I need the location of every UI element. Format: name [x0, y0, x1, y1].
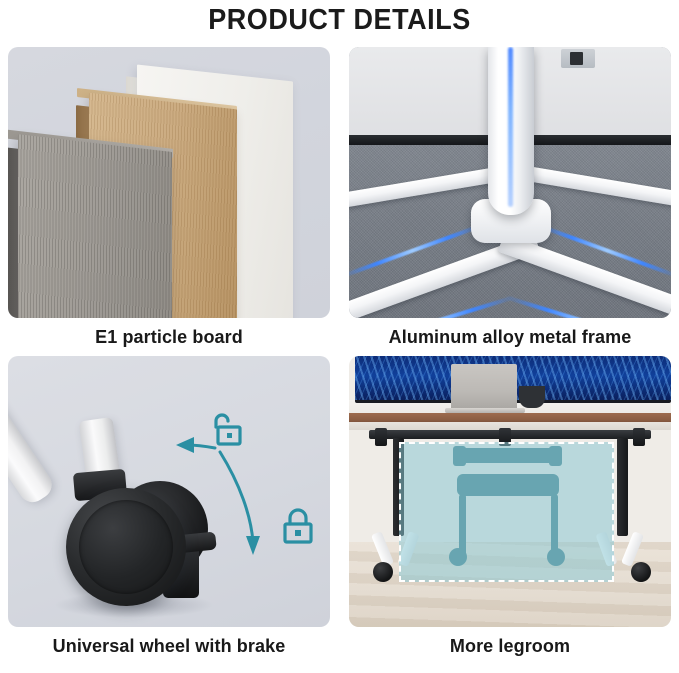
desk-caster-right — [631, 562, 651, 582]
wall-outlet-icon — [561, 49, 595, 68]
page-title: PRODUCT DETAILS — [24, 2, 655, 38]
feature-caption-metal-frame: Aluminum alloy metal frame — [349, 327, 671, 348]
more-legroom-photo — [349, 356, 671, 627]
column-glow-stripe — [508, 47, 513, 207]
desk-bracket-right — [633, 428, 645, 446]
feature-caption-particle-board: E1 particle board — [8, 327, 330, 348]
laptop — [451, 364, 517, 410]
feature-card-universal-wheel[interactable]: Universal wheel with brake — [8, 356, 330, 657]
feature-card-particle-board[interactable]: E1 particle board — [8, 47, 330, 348]
feature-caption-universal-wheel: Universal wheel with brake — [8, 636, 330, 657]
lock-icon — [280, 506, 320, 546]
particle-board-photo — [8, 47, 330, 318]
legroom-highlight-area — [399, 442, 614, 582]
desk-caster-left — [373, 562, 393, 582]
grey-board-face — [18, 134, 172, 318]
monitor-arm — [519, 386, 545, 408]
unlock-icon — [204, 410, 244, 450]
desk-leg-right — [617, 438, 628, 536]
lock-state-arrows — [8, 356, 330, 627]
metal-frame-photo — [349, 47, 671, 318]
feature-card-metal-frame[interactable]: Aluminum alloy metal frame — [349, 47, 671, 348]
desk-bracket-left — [375, 428, 387, 446]
feature-card-more-legroom[interactable]: More legroom — [349, 356, 671, 657]
universal-wheel-photo — [8, 356, 330, 627]
feature-grid: E1 particle board Aluminum alloy metal f… — [8, 47, 671, 667]
feature-caption-more-legroom: More legroom — [349, 636, 671, 657]
